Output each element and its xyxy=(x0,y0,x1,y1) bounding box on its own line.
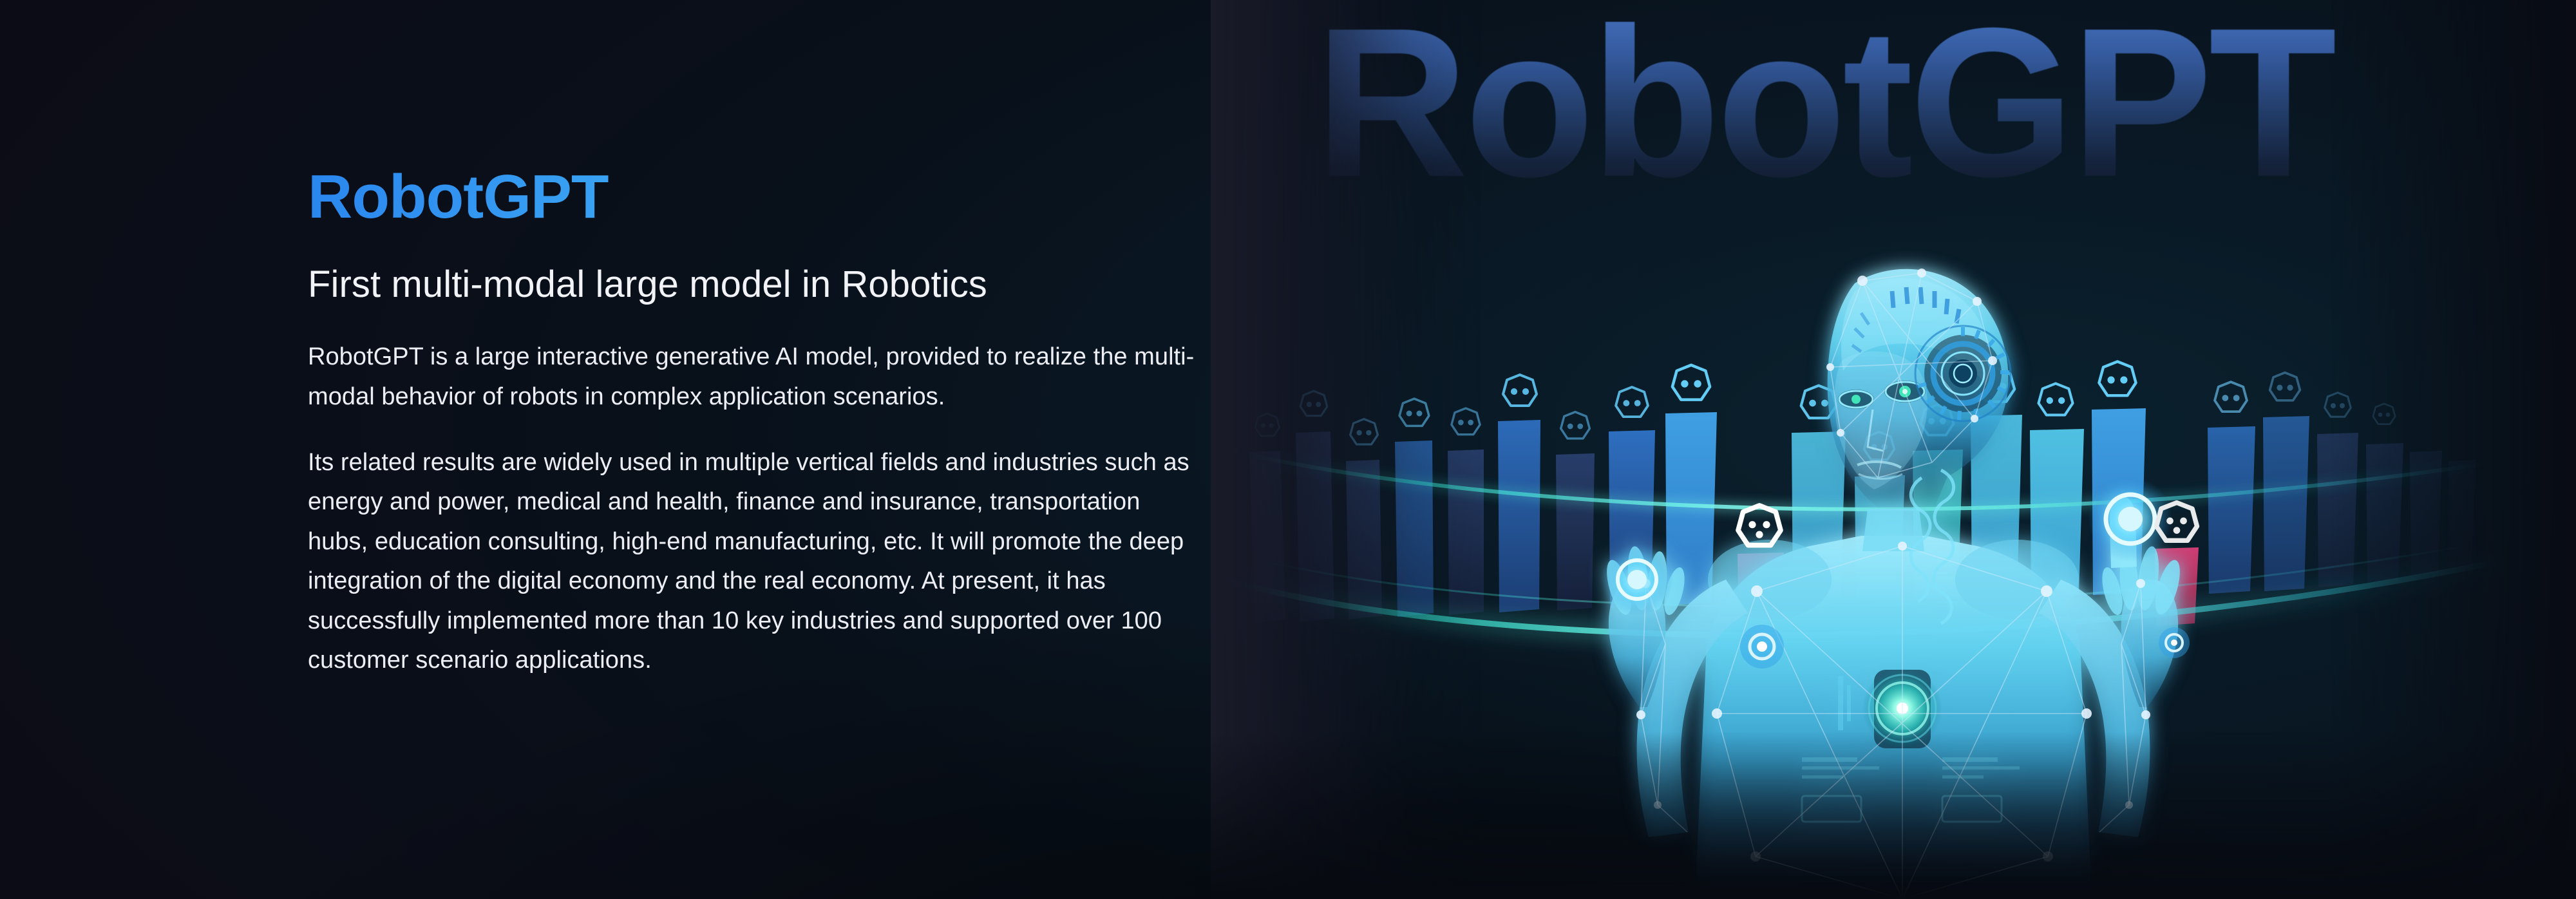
copy-column: RobotGPT First multi-modal large model i… xyxy=(308,166,1222,681)
marker-dot-right xyxy=(2159,627,2190,658)
highlight-badge-left xyxy=(1738,506,1781,545)
hero-illustration: RobotGPT xyxy=(1211,0,2576,899)
highlighted-badges xyxy=(1211,0,2576,899)
marker-dot-left xyxy=(1740,625,1784,668)
page-subtitle: First multi-modal large model in Robotic… xyxy=(308,263,1222,307)
description-paragraph-2: Its related results are widely used in m… xyxy=(308,443,1203,681)
description-paragraph-1: RobotGPT is a large interactive generati… xyxy=(308,337,1203,417)
page-title: RobotGPT xyxy=(308,166,1222,228)
hero-banner: RobotGPT First multi-modal large model i… xyxy=(0,0,2576,899)
highlight-badge-right xyxy=(2157,503,2197,541)
